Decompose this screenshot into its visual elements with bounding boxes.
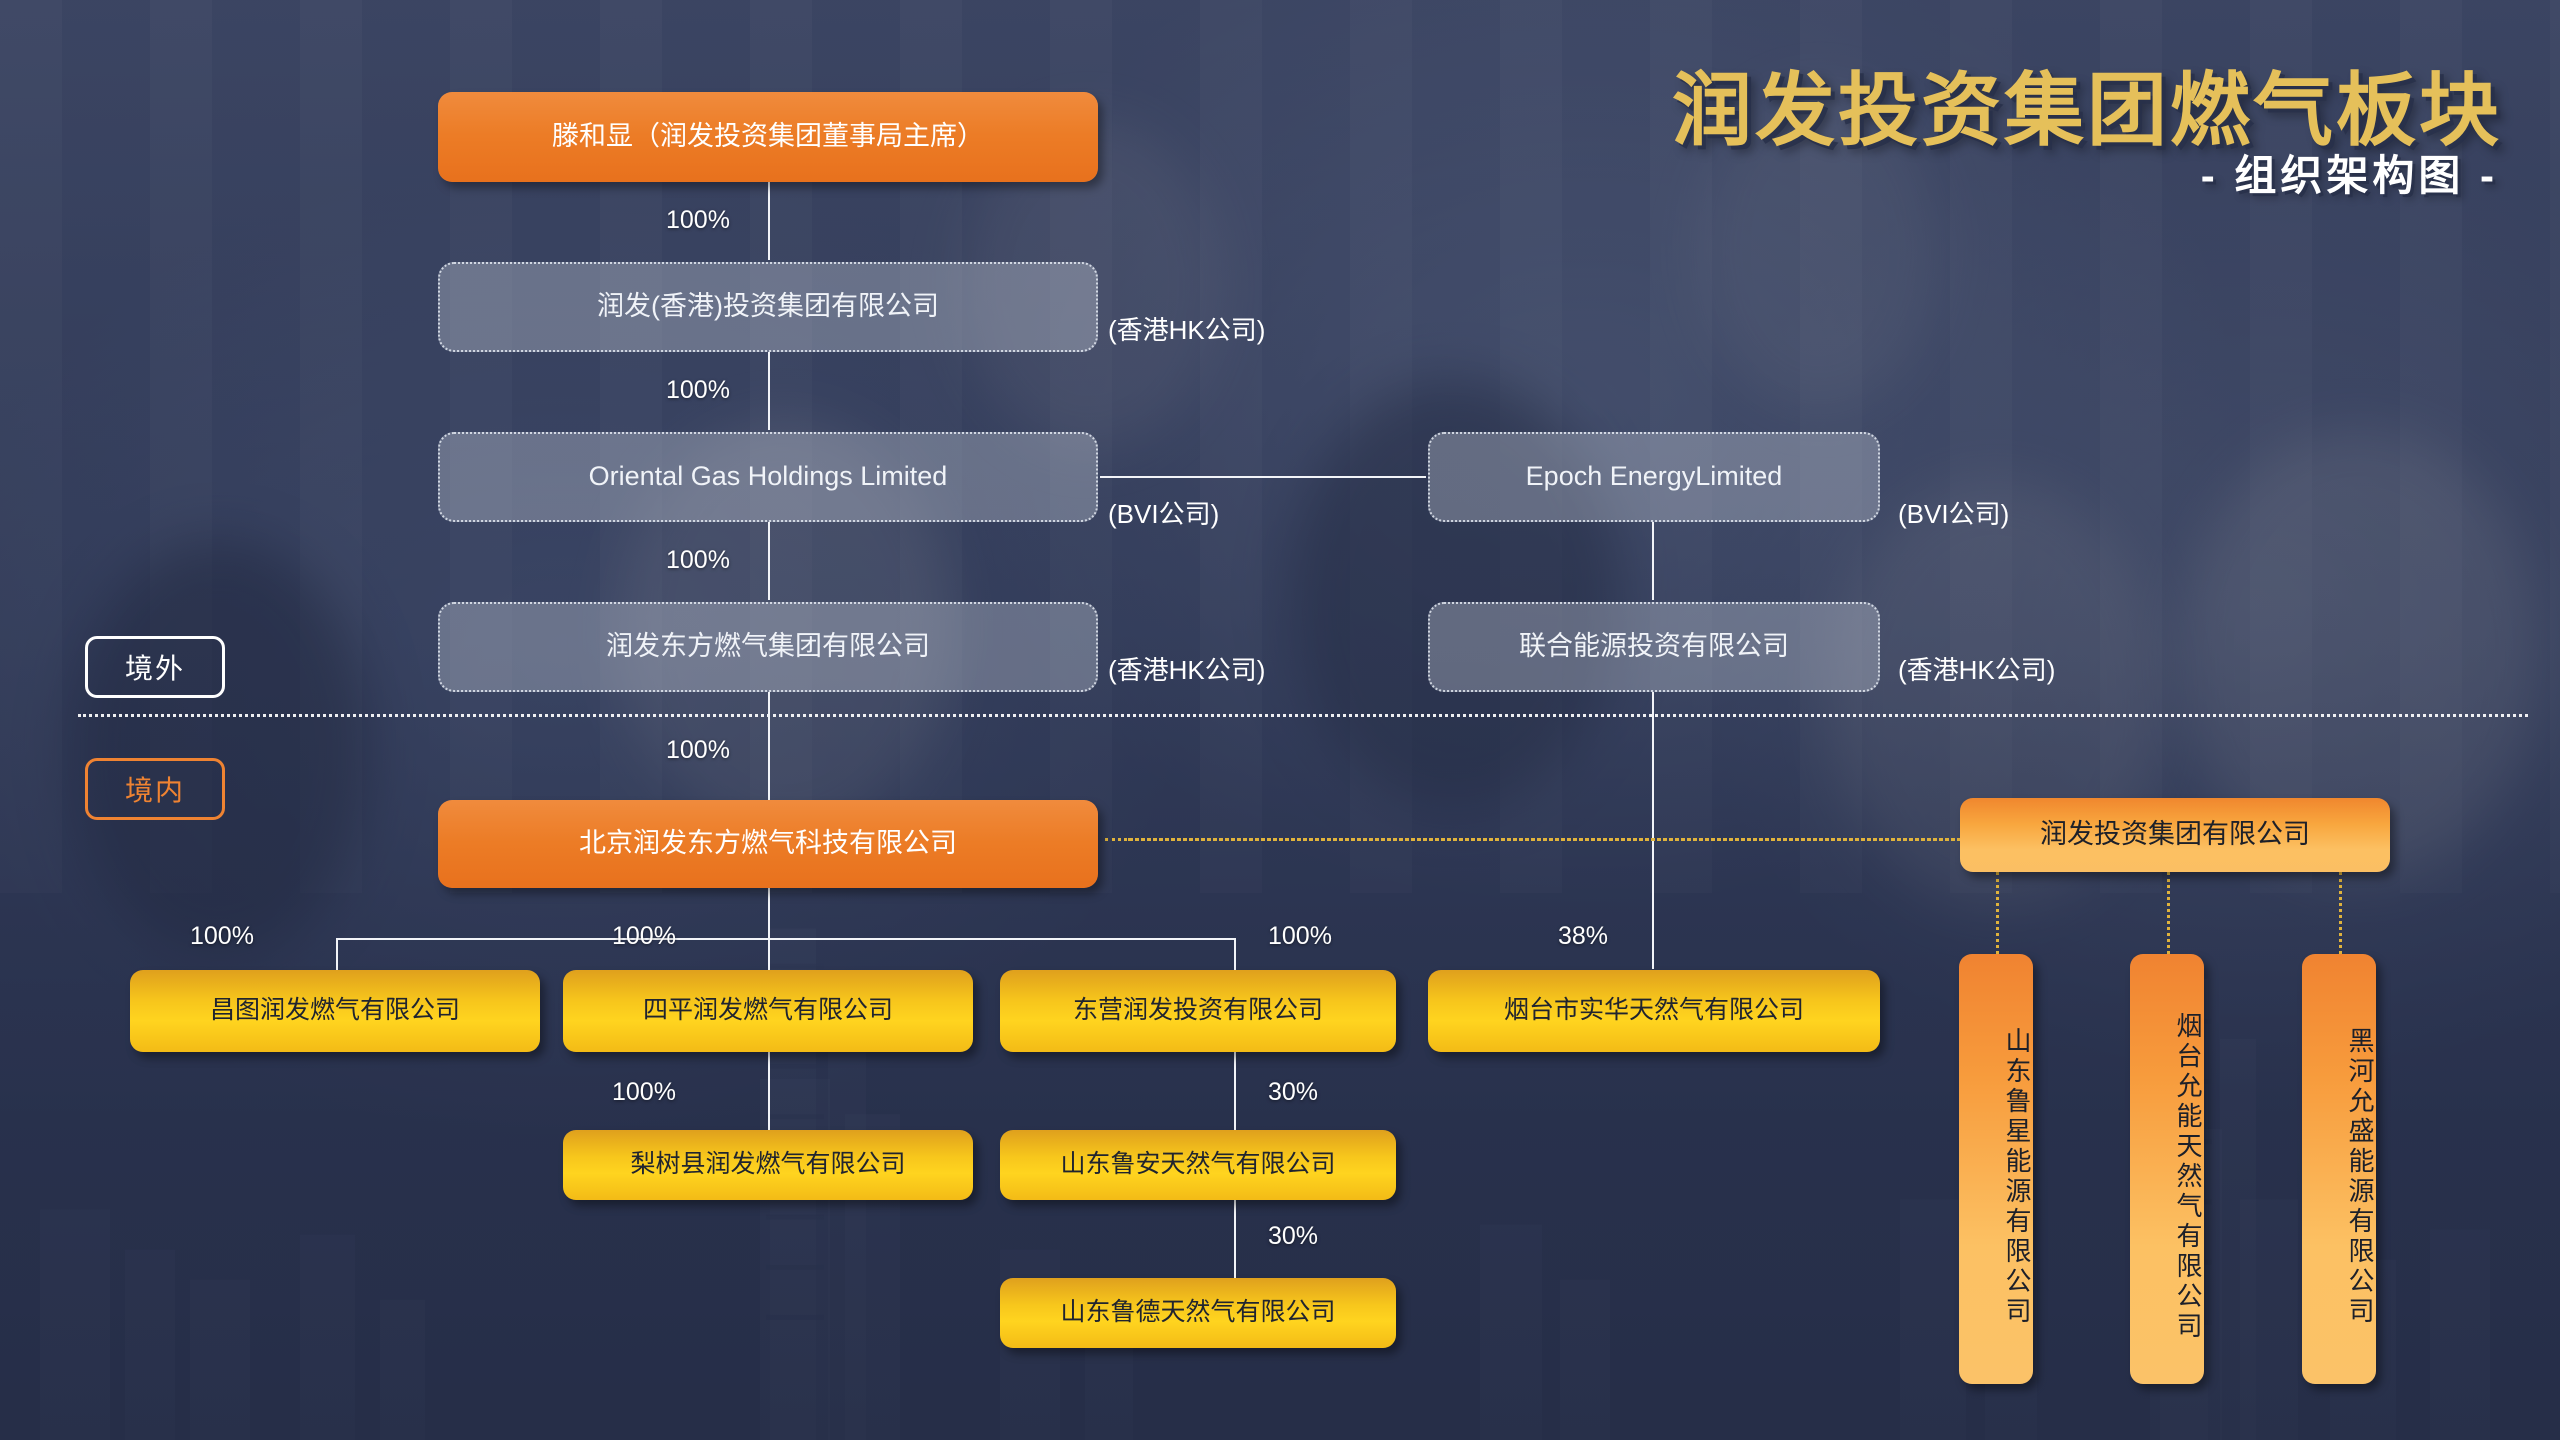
note-bvi-company-1: (BVI公司) — [1108, 494, 1219, 531]
node-yantai-yunneng[interactable]: 烟台允能天然气有限公司 — [2130, 954, 2204, 1384]
node-lishu[interactable]: 梨树县润发燃气有限公司 — [563, 1130, 973, 1200]
connector-siping-lishu — [768, 1052, 770, 1130]
node-epoch-energy[interactable]: Epoch EnergyLimited — [1428, 432, 1880, 522]
region-tag-offshore: 境外 — [85, 636, 225, 698]
node-united-energy[interactable]: 联合能源投资有限公司 — [1428, 602, 1880, 692]
connector-chairman-hk — [768, 182, 770, 260]
connector-rfgroup-luxing — [1996, 872, 1999, 954]
node-siping[interactable]: 四平润发燃气有限公司 — [563, 970, 973, 1052]
connector-oriental-group — [768, 522, 770, 600]
pct-beijing-dongying: 100% — [1268, 922, 1332, 951]
connector-bus-changtu — [336, 938, 338, 970]
node-shandong-luan[interactable]: 山东鲁安天然气有限公司 — [1000, 1130, 1396, 1200]
connector-rfgroup-yunneng — [2167, 872, 2170, 954]
note-bvi-company-2: (BVI公司) — [1898, 494, 2009, 531]
pct-group-beijing: 100% — [666, 736, 730, 765]
note-hk-company-3: (香港HK公司) — [1898, 650, 2055, 687]
pct-united-yantai: 38% — [1558, 922, 1608, 951]
node-oriental-gas[interactable]: Oriental Gas Holdings Limited — [438, 432, 1098, 522]
node-yantai-shihua[interactable]: 烟台市实华天然气有限公司 — [1428, 970, 1880, 1052]
offshore-onshore-divider — [78, 714, 2528, 717]
region-tag-onshore: 境内 — [85, 758, 225, 820]
pct-beijing-changtu: 100% — [190, 922, 254, 951]
note-hk-company-2: (香港HK公司) — [1108, 650, 1265, 687]
node-beijing-rf[interactable]: 北京润发东方燃气科技有限公司 — [438, 800, 1098, 888]
pct-oriental-group: 100% — [666, 546, 730, 575]
connector-oriental-epoch — [1100, 476, 1426, 478]
node-rf-invest-group[interactable]: 润发投资集团有限公司 — [1960, 798, 2390, 872]
connector-hk-oriental — [768, 352, 770, 430]
connector-group-beijing — [768, 692, 770, 800]
pct-hk-oriental: 100% — [666, 376, 730, 405]
pct-siping-lishu: 100% — [612, 1078, 676, 1107]
node-hk-invest[interactable]: 润发(香港)投资集团有限公司 — [438, 262, 1098, 352]
node-shandong-luxing[interactable]: 山东鲁星能源有限公司 — [1959, 954, 2033, 1384]
pct-chairman-hk: 100% — [666, 206, 730, 235]
node-heihe-yunsheng[interactable]: 黑河允盛能源有限公司 — [2302, 954, 2376, 1384]
connector-united-yantai — [1652, 692, 1654, 969]
node-shandong-lude[interactable]: 山东鲁德天然气有限公司 — [1000, 1278, 1396, 1348]
connector-beijing-rfgroup — [1128, 838, 1960, 841]
connector-bus-siping — [768, 938, 770, 970]
connector-sibling-bus — [336, 938, 1234, 940]
connector-luan-lude — [1234, 1200, 1236, 1278]
connector-epoch-united — [1652, 522, 1654, 600]
page-subtitle: - 组织架构图 - — [2201, 142, 2498, 203]
connector-rfgroup-yunsheng — [2339, 872, 2342, 954]
node-chairman[interactable]: 滕和显（润发投资集团董事局主席） — [438, 92, 1098, 182]
pct-beijing-siping: 100% — [612, 922, 676, 951]
connector-bus-dongying — [1234, 938, 1236, 970]
note-hk-company-1: (香港HK公司) — [1108, 310, 1265, 347]
pct-luan-lude: 30% — [1268, 1222, 1318, 1251]
node-dongying[interactable]: 东营润发投资有限公司 — [1000, 970, 1396, 1052]
node-rf-east-gas-group[interactable]: 润发东方燃气集团有限公司 — [438, 602, 1098, 692]
node-changtu[interactable]: 昌图润发燃气有限公司 — [130, 970, 540, 1052]
connector-dongying-luan — [1234, 1052, 1236, 1130]
pct-dongying-luan: 30% — [1268, 1078, 1318, 1107]
